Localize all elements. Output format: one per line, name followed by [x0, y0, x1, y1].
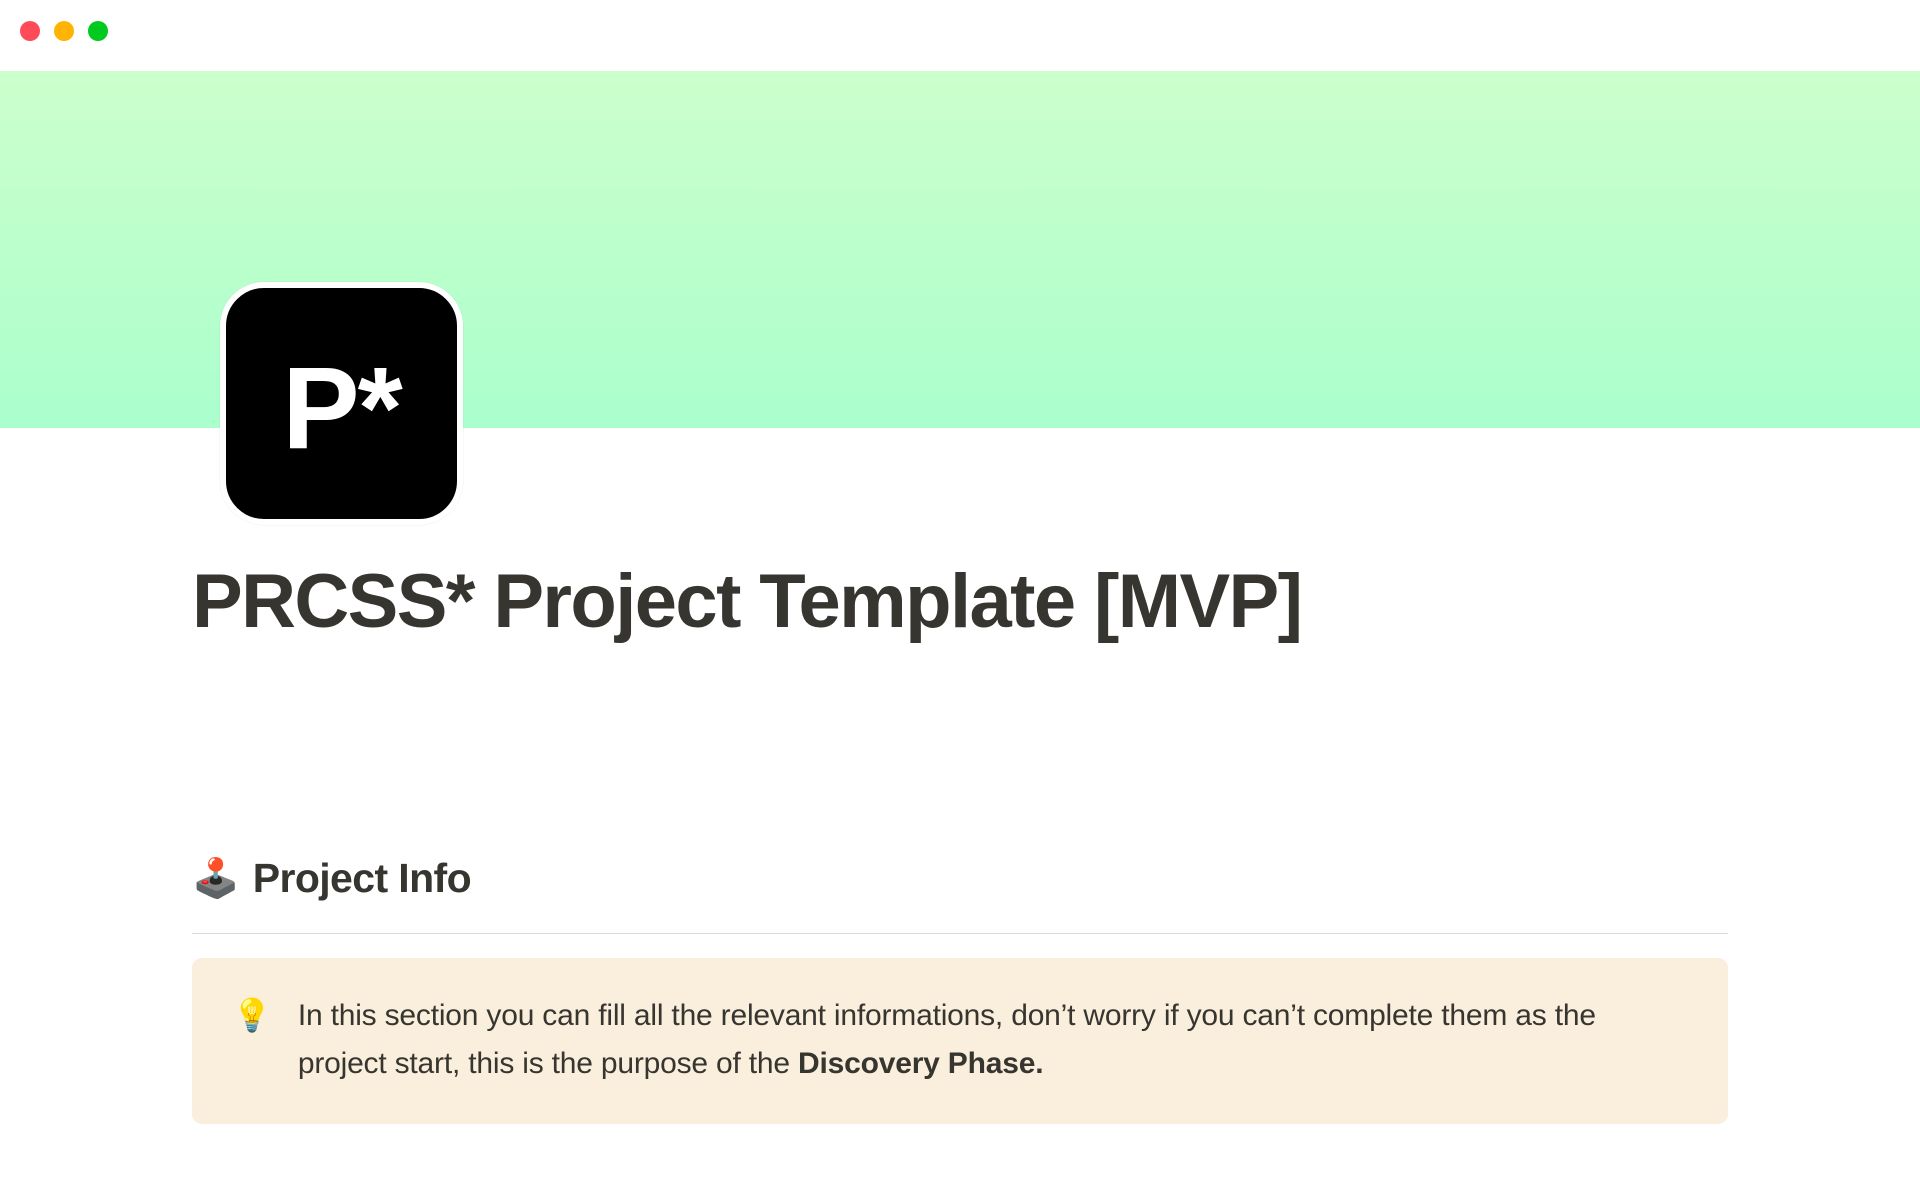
window-traffic-lights	[20, 21, 108, 41]
section-divider	[192, 933, 1728, 934]
app-window: P* PRCSS* Project Template [MVP] 🕹️ Proj…	[0, 0, 1920, 1200]
minimize-button[interactable]	[54, 21, 74, 41]
section-heading-project-info[interactable]: 🕹️ Project Info	[192, 854, 1728, 903]
joystick-emoji: 🕹️	[192, 860, 239, 898]
page-content: PRCSS* Project Template [MVP] 🕹️ Project…	[192, 560, 1728, 644]
callout-text-bold: Discovery Phase.	[798, 1047, 1043, 1080]
callout-text: In this section you can fill all the rel…	[298, 992, 1688, 1088]
page-icon-label: P*	[282, 350, 401, 466]
page-title[interactable]: PRCSS* Project Template [MVP]	[192, 560, 1728, 644]
lightbulb-emoji: 💡	[232, 992, 272, 1038]
window-titlebar	[0, 0, 1920, 71]
callout-block[interactable]: 💡 In this section you can fill all the r…	[192, 958, 1728, 1124]
maximize-button[interactable]	[88, 21, 108, 41]
page-icon[interactable]: P*	[220, 282, 463, 525]
close-button[interactable]	[20, 21, 40, 41]
section-heading-label: Project Info	[253, 854, 471, 903]
